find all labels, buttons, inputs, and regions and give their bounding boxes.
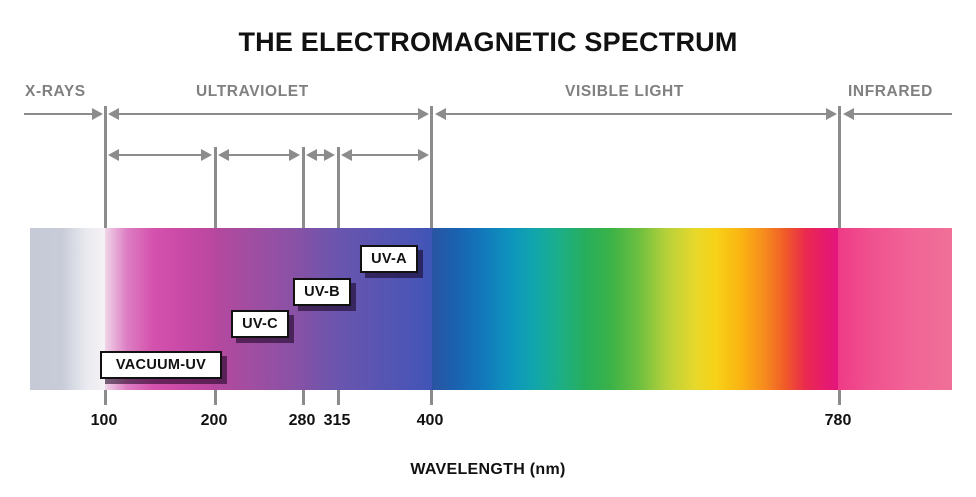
tick-label-400: 400 [390, 412, 470, 430]
callout-uv-c[interactable]: UV-C [231, 310, 289, 338]
spectrum-segment-infrared [838, 228, 952, 390]
axis-segment-uv-a [351, 154, 418, 156]
tick-label-100: 100 [64, 412, 144, 430]
axis-segment-uv-b [316, 154, 324, 156]
tick-mark-315 [337, 390, 340, 405]
arrowhead-uvb-right [324, 149, 335, 161]
axis-segment-uv-c [228, 154, 289, 156]
arrowhead-visible-right [826, 108, 837, 120]
tick-mark-400 [430, 390, 433, 405]
callout-uv-a[interactable]: UV-A [360, 245, 418, 273]
spectrum-segment-uv-b [303, 228, 338, 390]
callout-uv-a-label: UV-A [371, 251, 407, 267]
axis-segment-visible [445, 113, 826, 115]
axis-segment-vacuum-uv [118, 154, 201, 156]
axis-segment-ultraviolet [118, 113, 418, 115]
spectrum-diagram: THE ELECTROMAGNETIC SPECTRUM X-RAYS ULTR… [0, 0, 976, 497]
band-label-ultraviolet: ULTRAVIOLET [196, 83, 309, 101]
band-label-visible: VISIBLE LIGHT [565, 83, 684, 101]
spectrum-segment-uv-c [215, 228, 303, 390]
arrowhead-xrays-right [92, 108, 103, 120]
tick-label-780: 780 [798, 412, 878, 430]
spectrum-segment-visible [432, 228, 838, 390]
page-title: THE ELECTROMAGNETIC SPECTRUM [0, 27, 976, 58]
band-label-infrared: INFRARED [848, 83, 933, 101]
callout-uv-b-label: UV-B [304, 284, 340, 300]
axis-caption: WAVELENGTH (nm) [0, 461, 976, 479]
tick-label-315: 315 [297, 412, 377, 430]
tick-mark-200 [214, 390, 217, 405]
callout-vacuum-uv-label: VACUUM-UV [116, 357, 206, 373]
axis-segment-infrared [853, 113, 952, 115]
arrowhead-vacuumuv-right [201, 149, 212, 161]
tick-mark-280 [302, 390, 305, 405]
band-label-xrays: X-RAYS [25, 83, 86, 101]
callout-uv-b[interactable]: UV-B [293, 278, 351, 306]
callout-vacuum-uv[interactable]: VACUUM-UV [100, 351, 222, 379]
arrowhead-uvc-right [289, 149, 300, 161]
arrowhead-uva-right [418, 149, 429, 161]
axis-segment-xrays [24, 113, 94, 115]
callout-uv-c-label: UV-C [242, 316, 278, 332]
tick-mark-780 [838, 390, 841, 405]
tick-label-200: 200 [174, 412, 254, 430]
tick-mark-100 [104, 390, 107, 405]
arrowhead-uv-right [418, 108, 429, 120]
spectrum-segment-xrays [30, 228, 106, 390]
